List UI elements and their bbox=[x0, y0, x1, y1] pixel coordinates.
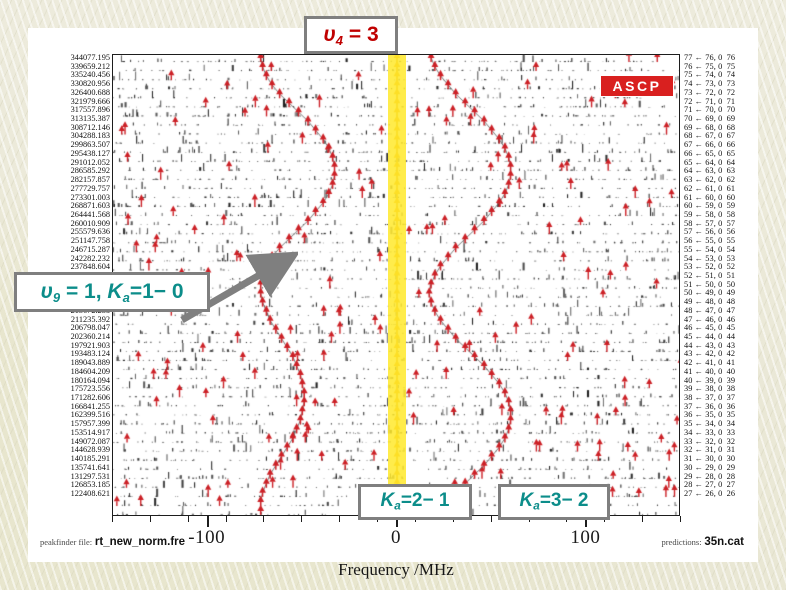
predictions-value: 35n.cat bbox=[704, 536, 744, 548]
axis-tick-minor bbox=[150, 516, 151, 522]
callout-v9-text: υ9 = 1, Ka=1− 0 bbox=[40, 281, 183, 304]
axis-tick-label: -100 bbox=[188, 527, 225, 549]
ka21-k-symbol: K bbox=[381, 490, 395, 511]
callout-v9-ka10: υ9 = 1, Ka=1− 0 bbox=[14, 272, 210, 312]
axis-tick-minor bbox=[491, 516, 492, 522]
axis-tick-label: 100 bbox=[570, 527, 600, 549]
callout-ka-3-2: Ka=3− 2 bbox=[498, 484, 610, 520]
axis-tick-minor bbox=[642, 516, 643, 522]
callout-ka-2-1: Ka=2− 1 bbox=[358, 484, 472, 520]
v9-symbol: υ bbox=[40, 280, 52, 303]
axis-tick-minor bbox=[226, 516, 227, 522]
axis-tick-minor bbox=[339, 516, 340, 522]
callout-ka21-text: Ka=2− 1 bbox=[381, 491, 450, 512]
v9-rest: = 1, bbox=[60, 280, 107, 303]
peakfinder-label: peakfinder file: bbox=[40, 537, 92, 547]
v4-subscript: 4 bbox=[336, 32, 343, 47]
ka32-rest: =3− 2 bbox=[540, 490, 589, 511]
predictions-label: predictions: bbox=[661, 537, 701, 547]
highlight-band bbox=[388, 55, 405, 515]
footer-peakfinder: peakfinder file: rt_new_norm.fre bbox=[40, 536, 185, 548]
right-assignment-column: 77 ← 76, 0 76 76 ← 75, 0 75 75 ← 74, 0 7… bbox=[684, 54, 762, 499]
peakfinder-value: rt_new_norm.fre bbox=[95, 536, 185, 548]
axis-tick-minor bbox=[188, 516, 189, 522]
ka21-rest: =2− 1 bbox=[401, 490, 450, 511]
x-axis-title: Frequency /MHz bbox=[112, 560, 680, 580]
x-axis: -1000100 bbox=[112, 516, 680, 546]
v4-rest: = 3 bbox=[343, 23, 379, 46]
v9-k-symbol: K bbox=[107, 280, 122, 303]
axis-tick-label: 0 bbox=[391, 527, 401, 549]
callout-ka32-text: Ka=3− 2 bbox=[520, 491, 589, 512]
axis-tick-minor bbox=[301, 516, 302, 522]
v4-symbol: υ bbox=[323, 23, 335, 46]
v9-k-subscript: a bbox=[123, 289, 130, 304]
axis-tick-minor bbox=[112, 516, 113, 522]
v9-k-rest: =1− 0 bbox=[130, 280, 184, 303]
ascp-logo: ASCP bbox=[600, 75, 674, 97]
axis-tick-minor bbox=[680, 516, 681, 522]
footer-predictions: predictions: 35n.cat bbox=[661, 536, 744, 548]
axis-tick-minor bbox=[263, 516, 264, 522]
ka32-k-symbol: K bbox=[520, 490, 534, 511]
callout-v4: υ4 = 3 bbox=[304, 16, 398, 54]
axis-tick-major bbox=[207, 516, 209, 527]
callout-v4-text: υ4 = 3 bbox=[323, 24, 378, 47]
